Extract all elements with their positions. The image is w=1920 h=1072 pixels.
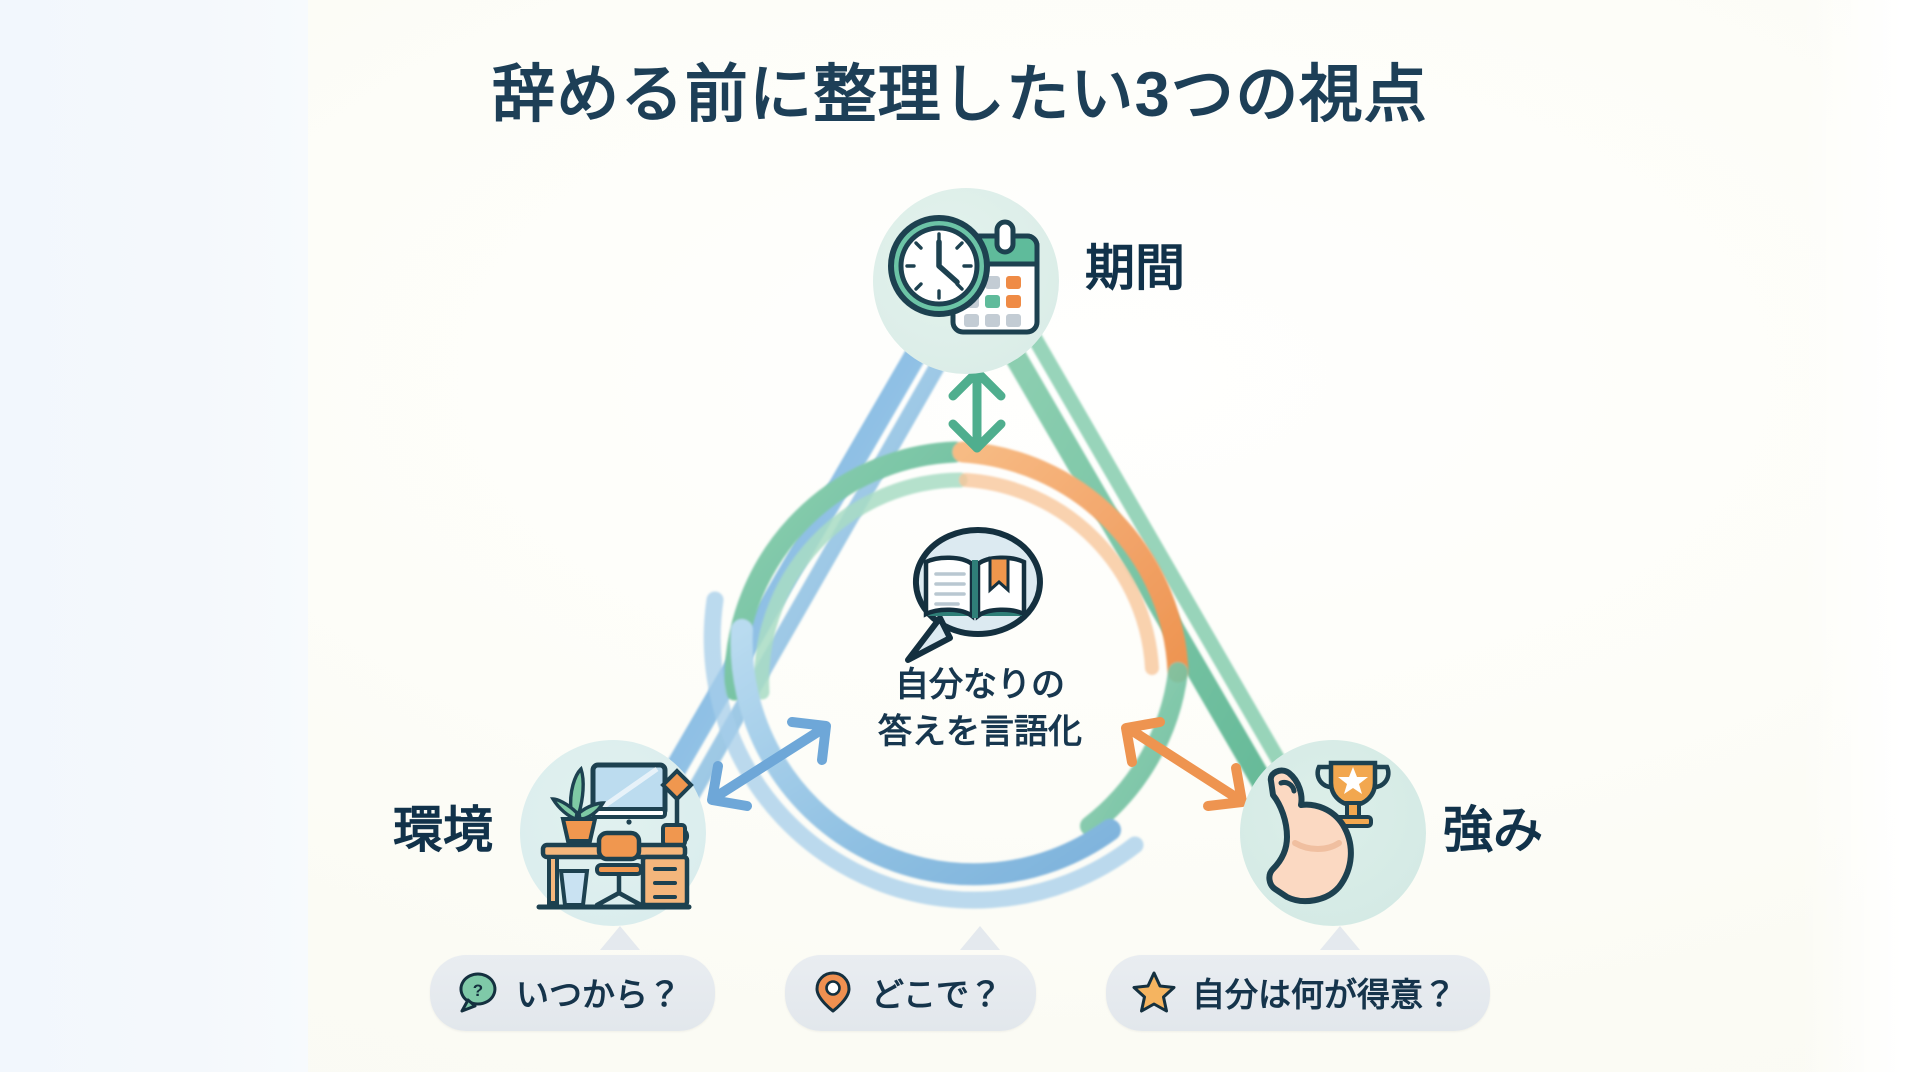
center-text: 自分なりの 答えを言語化 — [785, 662, 1175, 756]
chip-when[interactable]: ? いつから？ — [430, 955, 715, 1031]
node-icon-period — [873, 188, 1059, 374]
bicep-trophy-icon — [1247, 747, 1419, 919]
chip-strength[interactable]: 自分は何が得意？ — [1106, 955, 1490, 1031]
node-label-strength: 強み — [1443, 790, 1543, 862]
chip-where[interactable]: どこで？ — [785, 955, 1036, 1031]
chip-strength-label: 自分は何が得意？ — [1192, 968, 1456, 1016]
question-chip-row: ? いつから？ どこで？ 自分は何が得意？ — [0, 955, 1920, 1031]
clock-calendar-icon — [881, 196, 1051, 366]
node-label-period: 期間 — [1085, 228, 1185, 300]
node-icon-environment — [520, 740, 706, 926]
desk-workspace-icon — [527, 747, 699, 919]
question-speech-bubble-icon: ? — [456, 970, 500, 1014]
chip-where-label: どこで？ — [871, 968, 1002, 1016]
arrow-top-vertical — [953, 372, 1001, 448]
chip-pointers — [600, 926, 1360, 950]
node-label-environment: 環境 — [393, 790, 493, 862]
chip-when-label: いつから？ — [516, 968, 681, 1016]
location-pin-icon — [811, 970, 855, 1014]
center-icon-wrap — [878, 520, 1078, 670]
diagram-canvas: 辞める前に整理したい3つの視点 — [0, 0, 1920, 1072]
open-book-speech-bubble-icon — [878, 520, 1078, 670]
node-icon-strength — [1240, 740, 1426, 926]
svg-text:?: ? — [473, 981, 483, 1000]
star-icon — [1132, 970, 1176, 1014]
